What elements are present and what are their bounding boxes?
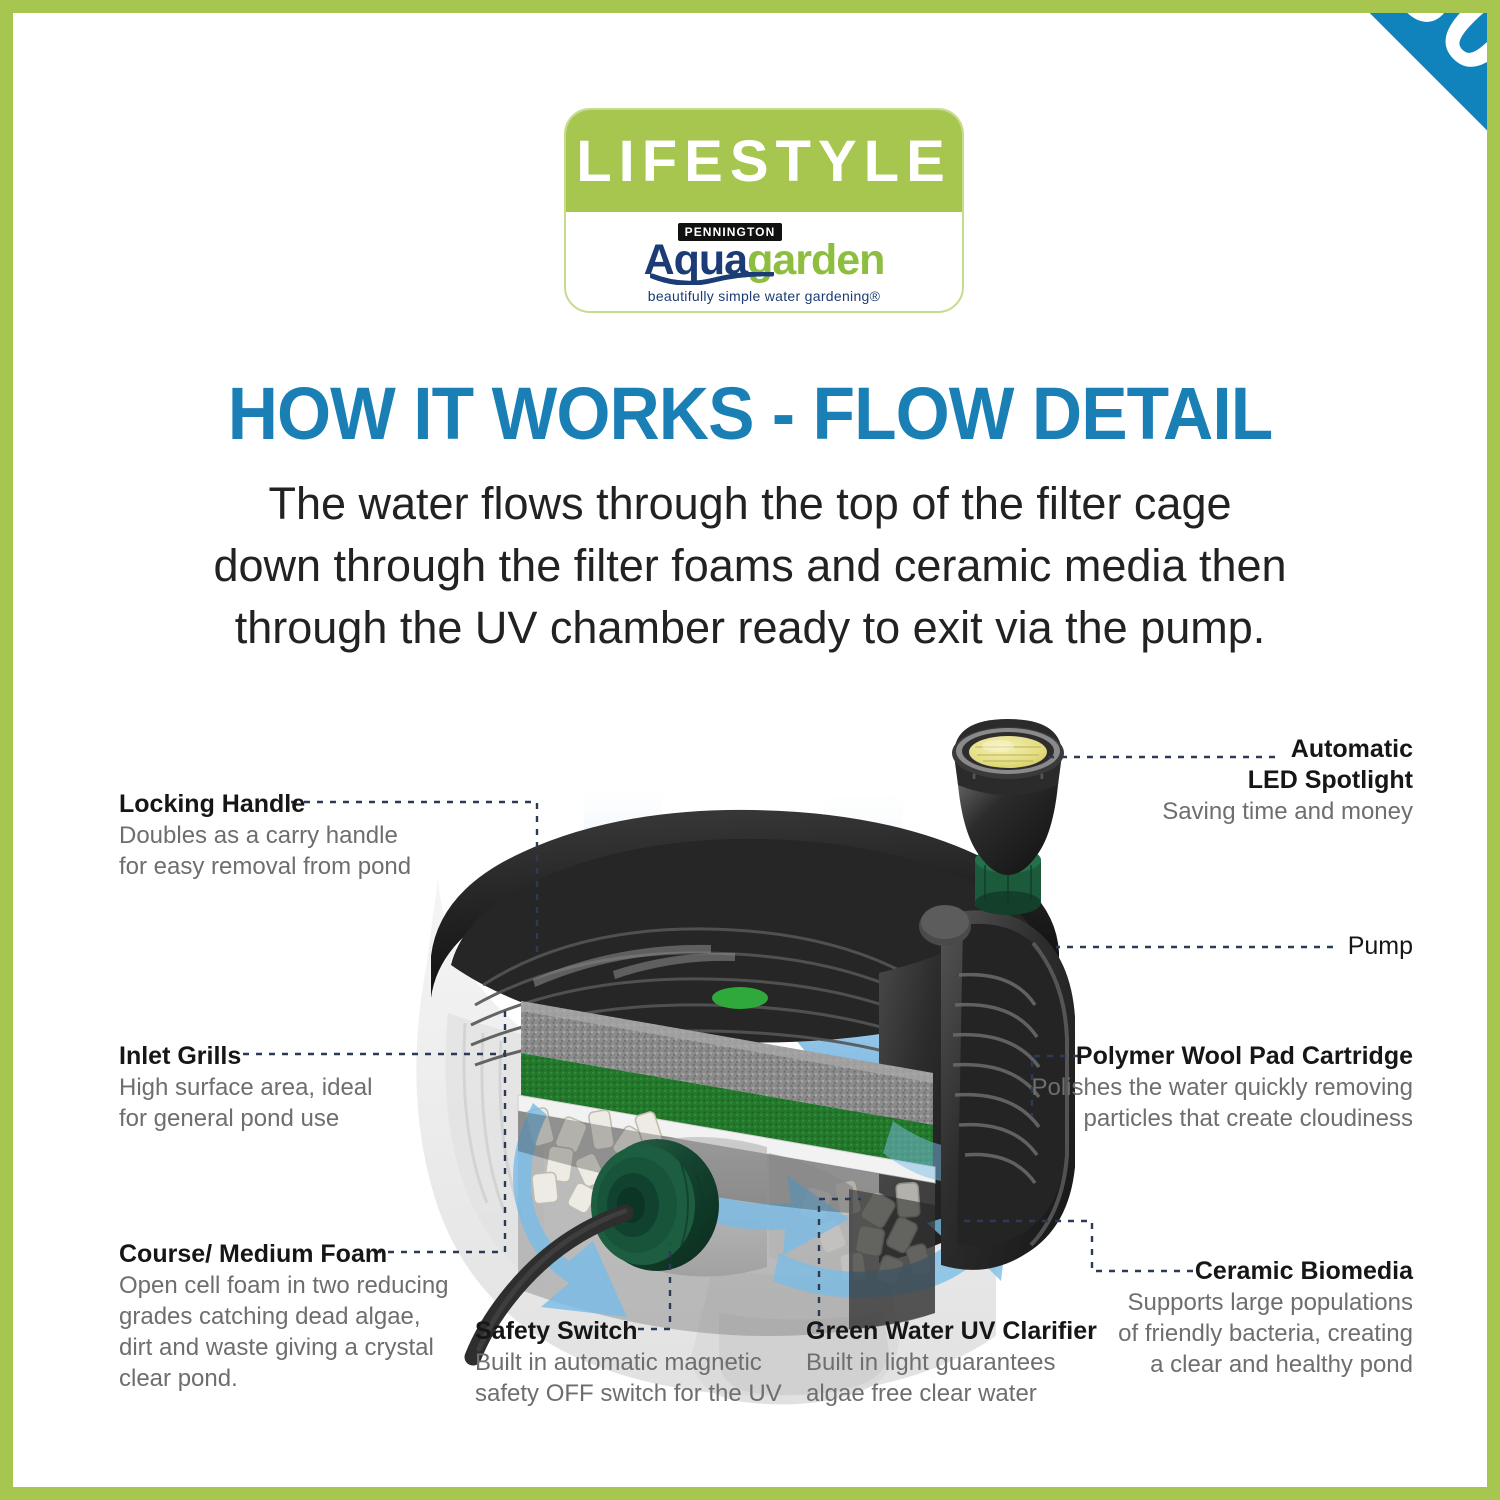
desc-line: algae free clear water xyxy=(806,1378,1097,1409)
callout-safety-switch-desc: Built in automatic magnetic safety OFF s… xyxy=(475,1347,782,1409)
brand-logo-badge: LIFESTYLE PENNINGTON Aquagarden beautifu… xyxy=(564,108,964,313)
callout-ceramic-biomedia-desc: Supports large populations of friendly b… xyxy=(893,1287,1413,1380)
aquagarden-logo: PENNINGTON Aquagarden beautifully simple… xyxy=(566,212,962,313)
aqua-swoosh-icon xyxy=(650,272,774,285)
callout-pump: Pump xyxy=(953,931,1413,962)
callout-polymer-wool-desc: Polishes the water quickly removing part… xyxy=(813,1072,1413,1134)
lifestyle-label: LIFESTYLE xyxy=(576,128,952,195)
lifestyle-banner: LIFESTYLE xyxy=(566,110,962,212)
desc-line: a clear and healthy pond xyxy=(893,1349,1413,1380)
poster-page: 300 LIFESTYLE PENNINGTON Aquagarden beau… xyxy=(0,0,1500,1500)
subtitle-line-2: down through the filter foams and cerami… xyxy=(180,535,1320,597)
aquagarden-wordmark: Aquagarden xyxy=(644,239,885,282)
callout-led-desc: Saving time and money xyxy=(953,796,1413,827)
callout-led-title-line-1: Automatic xyxy=(953,734,1413,765)
callout-course-medium-foam: Course/ Medium Foam Open cell foam in tw… xyxy=(119,1239,449,1394)
desc-line: Saving time and money xyxy=(953,796,1413,827)
callout-course-medium-foam-desc: Open cell foam in two reducing grades ca… xyxy=(119,1270,449,1394)
desc-line: grades catching dead algae, xyxy=(119,1301,449,1332)
subtitle-line-3: through the UV chamber ready to exit via… xyxy=(180,597,1320,659)
desc-line: particles that create cloudiness xyxy=(813,1103,1413,1134)
callout-led-title-line-2: LED Spotlight xyxy=(953,765,1413,796)
callout-safety-switch-title: Safety Switch xyxy=(475,1316,782,1347)
callout-inlet-grills-title: Inlet Grills xyxy=(119,1041,372,1072)
callout-inlet-grills: Inlet Grills High surface area, ideal fo… xyxy=(119,1041,372,1134)
callout-polymer-wool-title: Polymer Wool Pad Cartridge xyxy=(813,1041,1413,1072)
desc-line: for easy removal from pond xyxy=(119,851,411,882)
desc-line: Supports large populations xyxy=(893,1287,1413,1318)
desc-line: Doubles as a carry handle xyxy=(119,820,411,851)
desc-line: Open cell foam in two reducing xyxy=(119,1270,449,1301)
desc-line: for general pond use xyxy=(119,1103,372,1134)
desc-line: High surface area, ideal xyxy=(119,1072,372,1103)
callout-ceramic-biomedia-title: Ceramic Biomedia xyxy=(893,1256,1413,1287)
leader-green-water-uv xyxy=(819,1199,861,1329)
callout-locking-handle-title: Locking Handle xyxy=(119,789,411,820)
callout-ceramic-biomedia: Ceramic Biomedia Supports large populati… xyxy=(893,1256,1413,1380)
page-title: HOW IT WORKS - FLOW DETAIL xyxy=(57,371,1443,456)
callout-locking-handle-desc: Doubles as a carry handle for easy remov… xyxy=(119,820,411,882)
callout-safety-switch: Safety Switch Built in automatic magneti… xyxy=(475,1316,782,1409)
callout-automatic-led-spotlight: Automatic LED Spotlight Saving time and … xyxy=(953,734,1413,827)
aquagarden-tagline: beautifully simple water gardening® xyxy=(648,288,881,304)
desc-line: safety OFF switch for the UV xyxy=(475,1378,782,1409)
page-subtitle: The water flows through the top of the f… xyxy=(180,473,1320,659)
subtitle-line-1: The water flows through the top of the f… xyxy=(180,473,1320,535)
callout-inlet-grills-desc: High surface area, ideal for general pon… xyxy=(119,1072,372,1134)
desc-line: of friendly bacteria, creating xyxy=(893,1318,1413,1349)
desc-line: Polishes the water quickly removing xyxy=(813,1072,1413,1103)
desc-line: dirt and waste giving a crystal xyxy=(119,1332,449,1363)
desc-line: clear pond. xyxy=(119,1363,449,1394)
callout-pump-title: Pump xyxy=(953,931,1413,962)
callout-polymer-wool-pad-cartridge: Polymer Wool Pad Cartridge Polishes the … xyxy=(813,1041,1413,1134)
leader-course-medium-foam xyxy=(375,1054,505,1252)
desc-line: Built in automatic magnetic xyxy=(475,1347,782,1378)
callout-locking-handle: Locking Handle Doubles as a carry handle… xyxy=(119,789,411,882)
poster-inner: 300 LIFESTYLE PENNINGTON Aquagarden beau… xyxy=(13,13,1487,1487)
callout-course-medium-foam-title: Course/ Medium Foam xyxy=(119,1239,449,1270)
